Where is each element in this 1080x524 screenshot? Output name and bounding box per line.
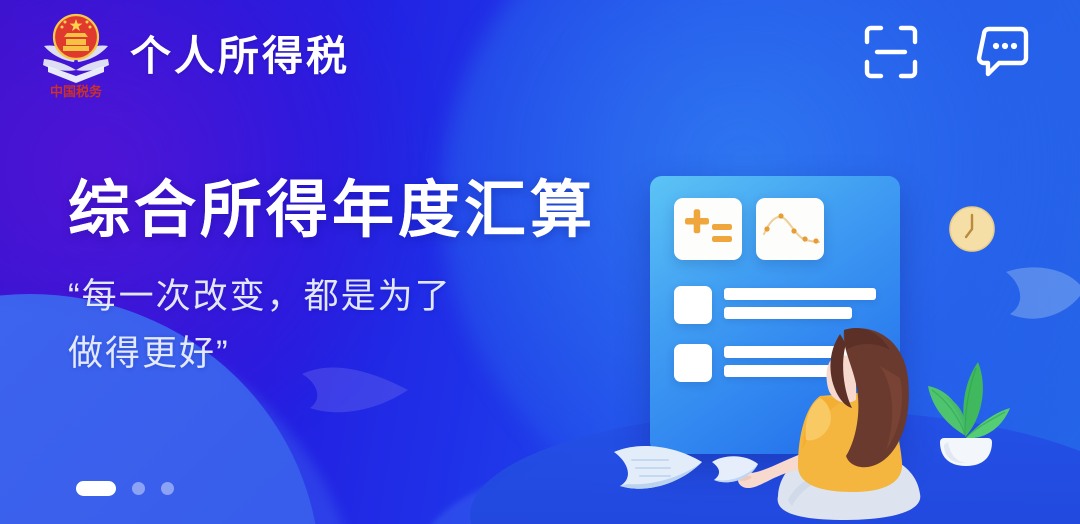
form-row-1-bar-1 — [724, 288, 876, 300]
carousel-dot-3[interactable] — [161, 482, 174, 495]
wall-clock-icon — [947, 204, 997, 254]
hero-subtitle-line-1: “每一次改变，都是为了 — [68, 269, 596, 326]
carousel-dot-1[interactable] — [76, 481, 116, 496]
hero-subtitle: “每一次改变，都是为了 做得更好” — [68, 269, 596, 382]
floating-paper-right — [1000, 262, 1080, 336]
china-tax-emblem: 中国税务 — [34, 4, 118, 100]
floating-paper-center — [708, 452, 762, 486]
app-header: 中国税务 个人所得税 — [0, 0, 1080, 104]
scan-icon[interactable] — [860, 21, 922, 83]
line-chart-card — [756, 198, 824, 260]
form-row-2-checkbox[interactable] — [674, 344, 712, 382]
hero-text-block: 综合所得年度汇算 “每一次改变，都是为了 做得更好” — [68, 178, 596, 382]
floating-paper-left — [610, 440, 706, 494]
app-title: 个人所得税 — [130, 22, 350, 82]
hero-subtitle-line-2: 做得更好” — [68, 326, 596, 383]
calculator-card — [674, 198, 742, 260]
form-row-1-checkbox[interactable] — [674, 286, 712, 324]
seated-woman — [728, 300, 968, 524]
emblem-caption: 中国税务 — [50, 84, 103, 99]
carousel-pagination[interactable] — [76, 481, 174, 496]
hero-title: 综合所得年度汇算 — [68, 178, 596, 243]
chat-bubble-icon[interactable] — [974, 21, 1036, 83]
ios-app-banner-screen: 中国税务 个人所得税 综合所得年度汇算 “ — [0, 0, 1080, 524]
carousel-dot-2[interactable] — [132, 482, 145, 495]
